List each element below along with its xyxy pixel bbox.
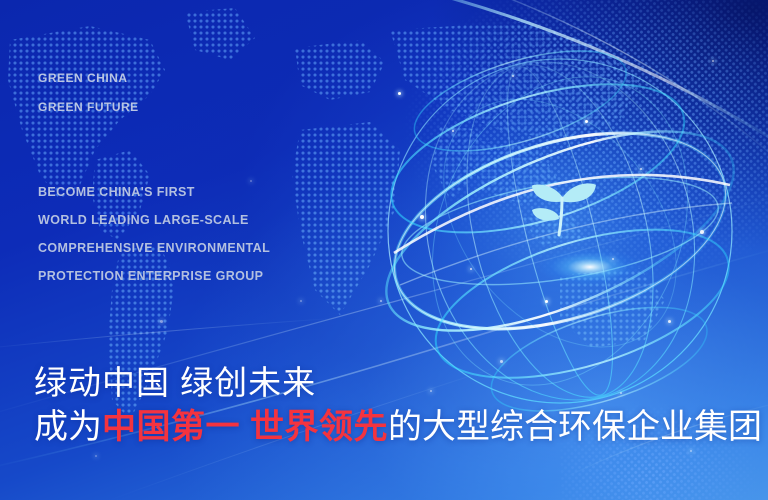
tagline-mid-line-3: COMPREHENSIVE ENVIRONMENTAL bbox=[38, 234, 270, 262]
headline: 绿动中国 绿创未来 成为中国第一 世界领先的大型综合环保企业集团 bbox=[34, 362, 762, 450]
tagline-mid-line-2: WORLD LEADING LARGE-SCALE bbox=[38, 206, 270, 234]
tagline-top-line-2: GREEN FUTURE bbox=[38, 93, 139, 122]
headline-line-2-highlight: 中国第一 世界领先 bbox=[102, 408, 388, 446]
tagline-mid-line-1: BECOME CHINA'S FIRST bbox=[38, 178, 270, 206]
tagline-top: GREEN CHINA GREEN FUTURE bbox=[38, 64, 139, 122]
headline-line-2: 成为中国第一 世界领先的大型综合环保企业集团 bbox=[34, 404, 762, 450]
tagline-mid: BECOME CHINA'S FIRST WORLD LEADING LARGE… bbox=[38, 178, 270, 290]
headline-line-2-prefix: 成为 bbox=[34, 408, 102, 446]
headline-line-2-suffix: 的大型综合环保企业集团 bbox=[388, 408, 762, 446]
tagline-top-line-1: GREEN CHINA bbox=[38, 64, 139, 93]
green-china-banner: GREEN CHINA GREEN FUTURE BECOME CHINA'S … bbox=[0, 0, 768, 500]
tagline-mid-line-4: PROTECTION ENTERPRISE GROUP bbox=[38, 262, 270, 290]
headline-line-1: 绿动中国 绿创未来 bbox=[34, 362, 762, 404]
